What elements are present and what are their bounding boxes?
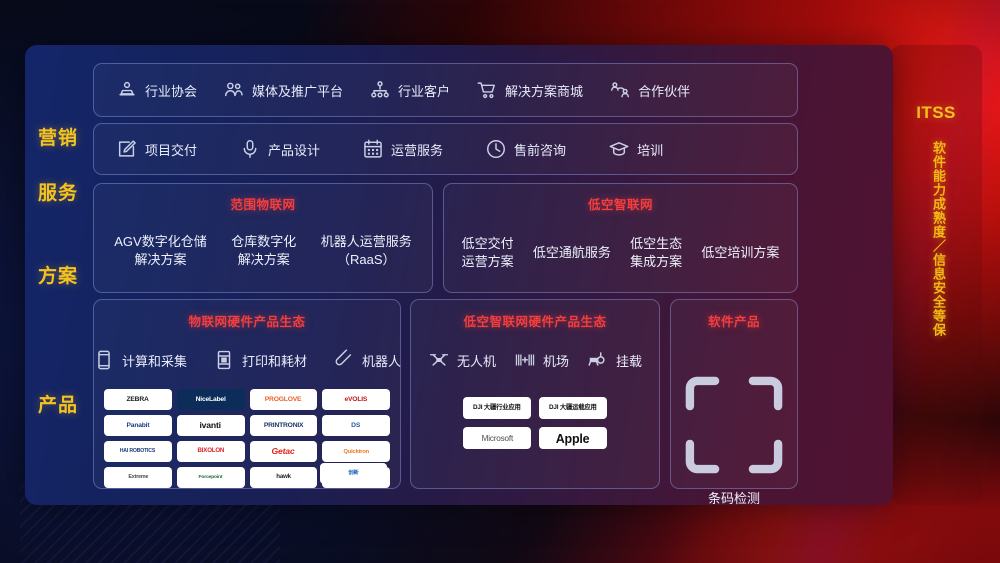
- row-label-service: 服务: [38, 178, 96, 205]
- software-item-barcode[interactable]: 条码检测: [671, 362, 797, 508]
- service-item-label: 培训: [637, 140, 663, 159]
- marketing-item-industry-customer[interactable]: 行业客户: [369, 79, 450, 101]
- product-item-drone[interactable]: 无人机: [428, 349, 496, 371]
- solution-item[interactable]: 机器人运营服务 （RaaS）: [321, 233, 412, 268]
- product-item-print-consumable[interactable]: 打印和耗材: [213, 349, 307, 371]
- certification-title: ITSS: [890, 103, 982, 123]
- solution-item[interactable]: 低空通航服务: [533, 244, 611, 262]
- certification-panel-itss: ITSS 软件能力成熟度／信息安全等保: [890, 45, 982, 505]
- product-card-title: 软件产品: [671, 311, 797, 330]
- solution-card-title: 低空智联网: [444, 194, 797, 213]
- service-item-presales[interactable]: 售前咨询: [485, 138, 566, 160]
- service-item-operation[interactable]: 运营服务: [362, 138, 443, 160]
- media-promotion-icon: [223, 79, 245, 101]
- industry-association-icon: [116, 79, 138, 101]
- partner-logo[interactable]: Forcepoint: [177, 467, 245, 488]
- marketing-row-card: 行业协会 媒体及推广平台 行业客户 解决方案商城: [93, 63, 798, 117]
- partner-logo[interactable]: 创新: [320, 463, 387, 484]
- microphone-icon: [239, 138, 261, 160]
- solution-card-iot: 范围物联网 AGV数字化仓储 解决方案 仓库数字化 解决方案 机器人运营服务 （…: [93, 183, 433, 293]
- service-item-project-delivery[interactable]: 项目交付: [116, 138, 197, 160]
- product-card-title: 物联网硬件产品生态: [94, 311, 400, 330]
- product-item-label: 机场: [543, 351, 569, 370]
- graduation-cap-icon: [608, 138, 630, 160]
- service-item-product-design[interactable]: 产品设计: [239, 138, 320, 160]
- marketing-item-label: 行业客户: [398, 81, 450, 100]
- clock-icon: [485, 138, 507, 160]
- partner-logo[interactable]: Panabit: [104, 415, 172, 436]
- partner-logo[interactable]: PROGLOVE: [250, 389, 318, 410]
- printer-film-icon: [213, 349, 235, 371]
- certification-vertical-text: 软件能力成熟度／信息安全等保: [925, 141, 947, 337]
- solution-item[interactable]: 低空培训方案: [701, 244, 779, 262]
- payload-mount-icon: [587, 349, 609, 371]
- partner-logo[interactable]: Quicktron: [322, 441, 390, 462]
- solution-card-lowaltitude: 低空智联网 低空交付 运营方案 低空通航服务 低空生态 集成方案 低空培训方案: [443, 183, 798, 293]
- marketing-item-media-promotion[interactable]: 媒体及推广平台: [223, 79, 343, 101]
- solution-item[interactable]: 低空交付 运营方案: [462, 235, 514, 270]
- marketing-item-label: 媒体及推广平台: [252, 81, 343, 100]
- shopping-cart-icon: [476, 79, 498, 101]
- marketing-item-label: 行业协会: [145, 81, 197, 100]
- service-item-label: 产品设计: [268, 140, 320, 159]
- partner-handshake-icon: [609, 79, 631, 101]
- partner-logo-grid: DJI 大疆行业应用 DJI 大疆运载应用 Microsoft Apple: [411, 397, 659, 449]
- partner-logo[interactable]: DJI 大疆行业应用: [463, 397, 531, 419]
- service-item-training[interactable]: 培训: [608, 138, 663, 160]
- service-item-label: 运营服务: [391, 140, 443, 159]
- marketing-item-industry-association[interactable]: 行业协会: [116, 79, 197, 101]
- product-item-label: 打印和耗材: [242, 351, 307, 370]
- product-item-label: 挂载: [616, 351, 642, 370]
- airport-icon: [514, 349, 536, 371]
- partner-logo[interactable]: BIXOLON: [177, 441, 245, 462]
- barcode-scan-icon: [671, 362, 797, 488]
- solution-item[interactable]: 仓库数字化 解决方案: [231, 233, 296, 268]
- partner-logo[interactable]: Extreme: [104, 467, 172, 488]
- product-item-airport[interactable]: 机场: [514, 349, 569, 371]
- product-item-label: 计算和采集: [122, 351, 187, 370]
- marketing-item-solution-mall[interactable]: 解决方案商城: [476, 79, 583, 101]
- partner-logo[interactable]: ivanti: [177, 415, 245, 436]
- row-label-solution: 方案: [38, 261, 96, 288]
- service-item-label: 项目交付: [145, 140, 197, 159]
- product-item-compute-capture[interactable]: 计算和采集: [93, 349, 187, 371]
- pencil-edit-icon: [116, 138, 138, 160]
- floppy-disk-icon: [671, 550, 797, 563]
- partner-logo[interactable]: HAI ROBOTICS: [104, 441, 172, 462]
- marketing-item-partner[interactable]: 合作伙伴: [609, 79, 690, 101]
- solution-item[interactable]: AGV数字化仓储 解决方案: [114, 233, 206, 268]
- paperclip-robot-icon: [333, 349, 355, 371]
- marketing-item-label: 解决方案商城: [505, 81, 583, 100]
- product-item-robot[interactable]: 机器人: [333, 349, 401, 371]
- partner-logo[interactable]: eVOLIS: [322, 389, 390, 410]
- partner-logo[interactable]: Apple: [539, 427, 607, 449]
- service-row-card: 项目交付 产品设计 运营服务: [93, 123, 798, 175]
- partner-logo[interactable]: NiceLabel: [177, 389, 245, 410]
- service-item-label: 售前咨询: [514, 140, 566, 159]
- partner-logo[interactable]: DJI 大疆运载应用: [539, 397, 607, 419]
- row-label-product: 产品: [38, 390, 96, 417]
- partner-logo[interactable]: DS: [322, 415, 390, 436]
- partner-logo[interactable]: hawk: [250, 467, 318, 488]
- solution-card-title: 范围物联网: [94, 194, 432, 213]
- partner-logo[interactable]: PRINTRONIX: [250, 415, 318, 436]
- software-item-label: 条码检测: [708, 491, 760, 506]
- calendar-icon: [362, 138, 384, 160]
- product-card-iot-hardware: 物联网硬件产品生态 计算和采集 打印和耗材 机器人: [93, 299, 401, 489]
- product-item-label: 机器人: [362, 351, 401, 370]
- solution-item[interactable]: 低空生态 集成方案: [630, 235, 682, 270]
- partner-logo[interactable]: Microsoft: [463, 427, 531, 449]
- row-label-marketing: 营销: [38, 123, 96, 150]
- partner-logo[interactable]: Getac: [250, 441, 318, 462]
- architecture-board: 营销 服务 方案 产品 行业协会 媒体及推广平台: [25, 45, 893, 505]
- product-card-lowaltitude-hardware: 低空智联网硬件产品生态 无人机 机场: [410, 299, 660, 489]
- partner-logo[interactable]: ZEBRA: [104, 389, 172, 410]
- product-card-software: 软件产品 条码检测 应用软件: [670, 299, 798, 489]
- product-item-payload[interactable]: 挂载: [587, 349, 642, 371]
- product-item-label: 无人机: [457, 351, 496, 370]
- drone-icon: [428, 349, 450, 371]
- software-item-application[interactable]: 应用软件: [671, 550, 797, 563]
- marketing-item-label: 合作伙伴: [638, 81, 690, 100]
- industry-customer-icon: [369, 79, 391, 101]
- product-card-title: 低空智联网硬件产品生态: [411, 311, 659, 330]
- tablet-device-icon: [93, 349, 115, 371]
